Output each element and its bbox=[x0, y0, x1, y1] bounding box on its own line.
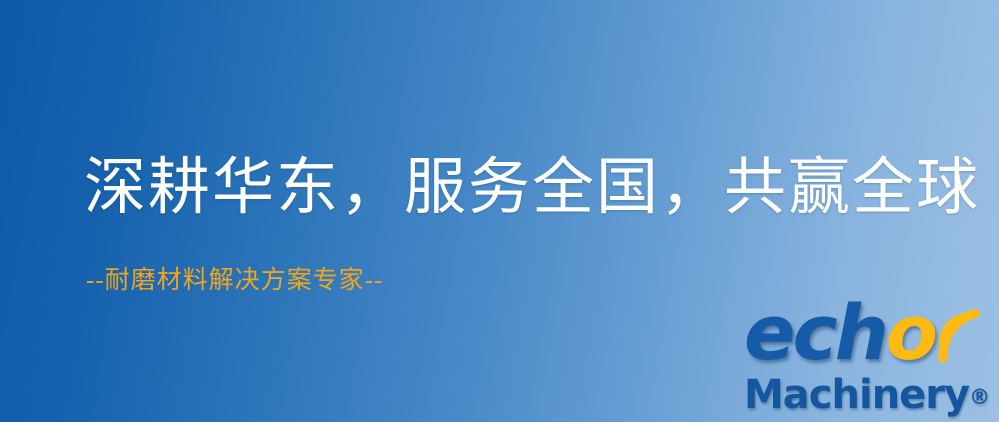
subtitle-text: --耐磨材料解决方案专家-- bbox=[86, 266, 383, 296]
logo-brand-text: echo bbox=[744, 290, 935, 376]
logo-wordmark: echo bbox=[742, 296, 994, 382]
page-title: 深耕华东，服务全国，共赢全球 bbox=[84, 152, 980, 224]
registered-trademark-icon: ® bbox=[969, 385, 990, 409]
signal-waves-icon bbox=[922, 294, 994, 364]
logo-brand-text-blue: ech bbox=[744, 288, 886, 377]
echo-machinery-logo[interactable]: echo Machinery® bbox=[742, 296, 994, 418]
logo-tagline: Machinery® bbox=[744, 372, 990, 420]
logo-tagline-text: Machinery bbox=[744, 372, 969, 418]
promo-banner: 深耕华东，服务全国，共赢全球 --耐磨材料解决方案专家-- echo Machi… bbox=[0, 0, 999, 422]
